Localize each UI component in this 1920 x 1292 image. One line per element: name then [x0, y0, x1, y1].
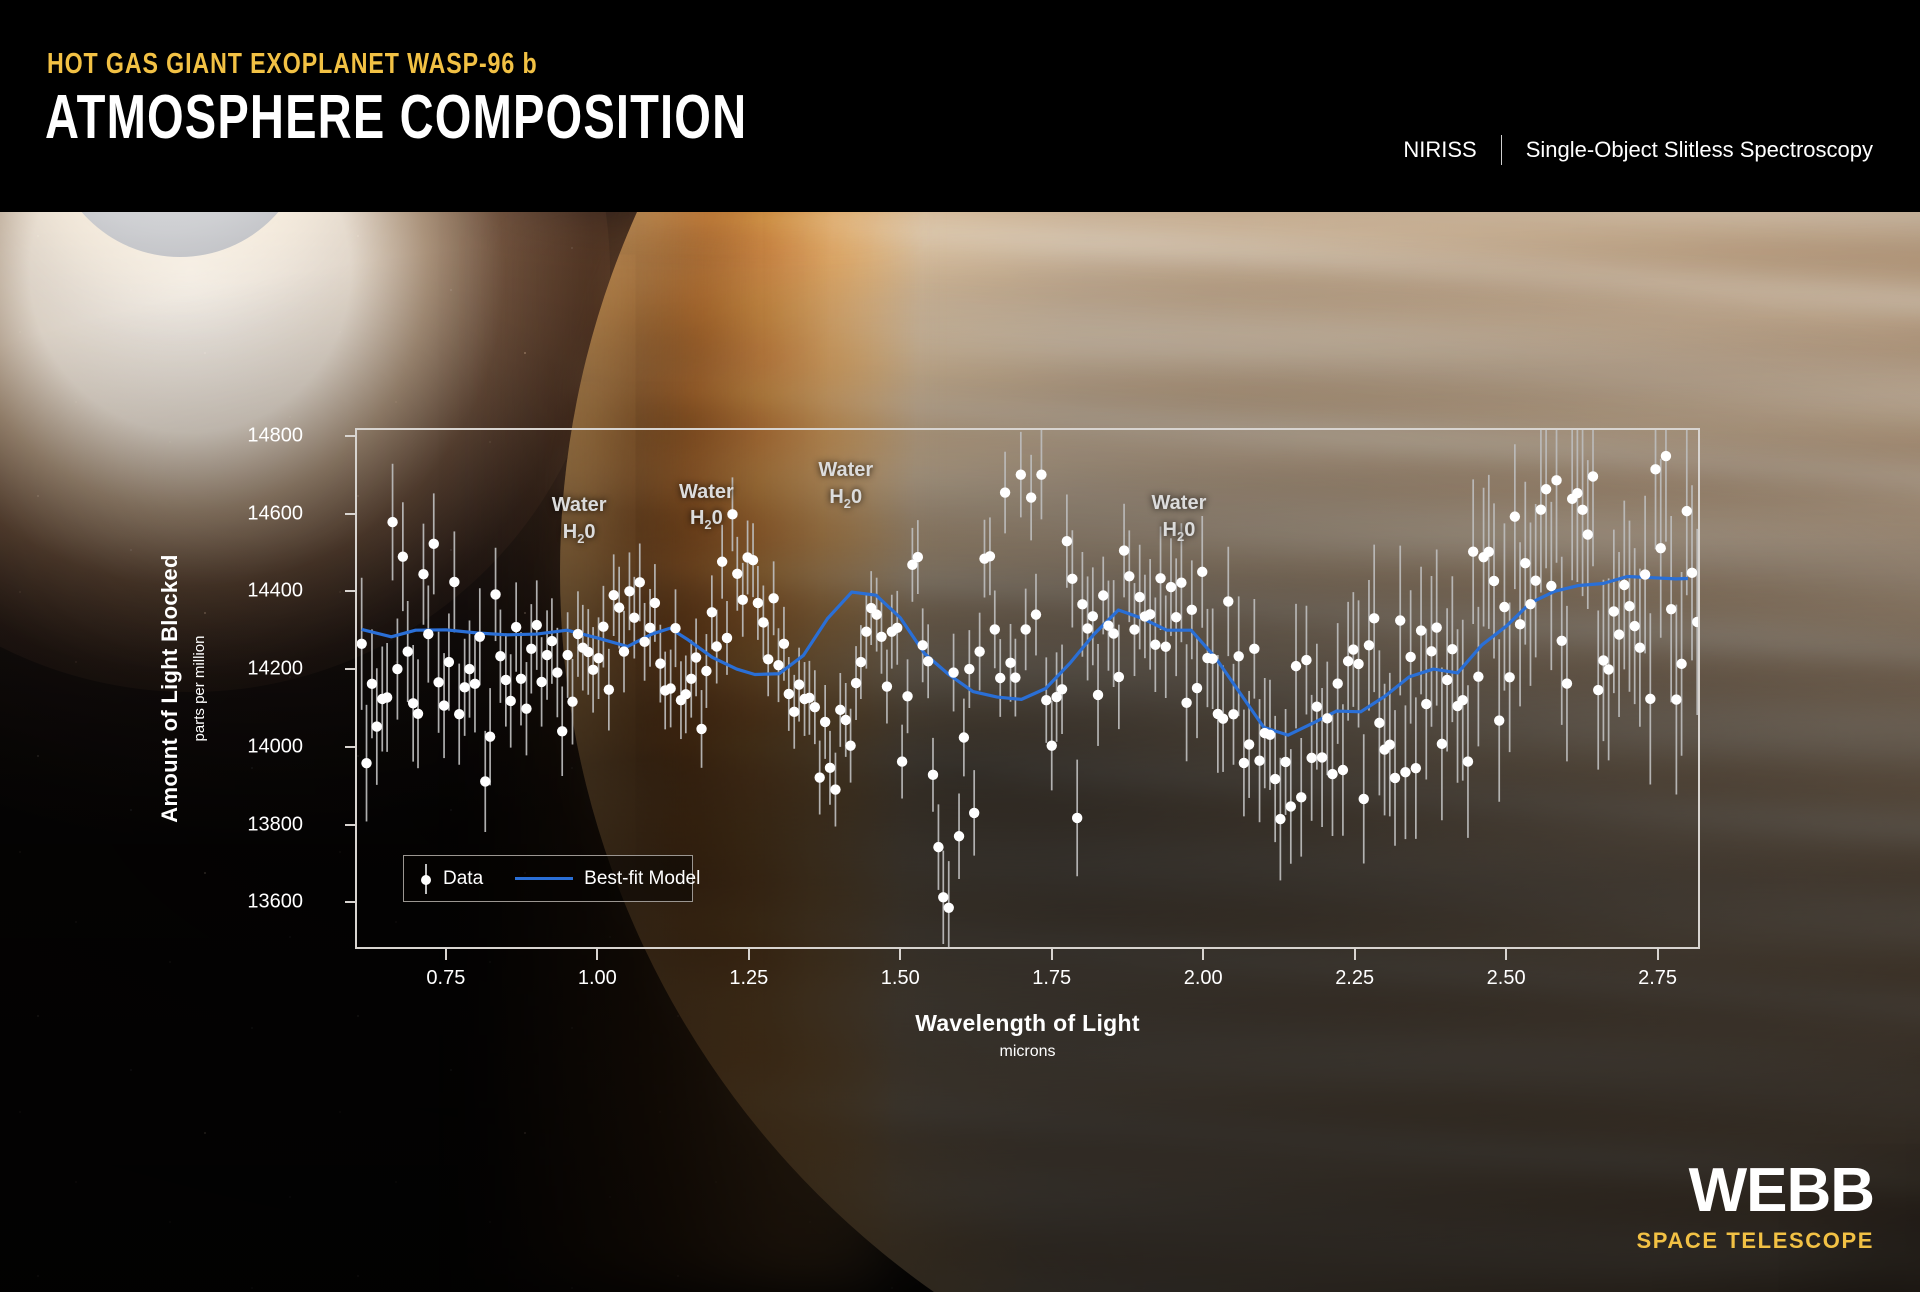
- webb-wordmark: WEBB: [1636, 1162, 1874, 1221]
- water-annotation: WaterH20: [552, 492, 607, 547]
- x-tick-mark: [1505, 949, 1507, 960]
- y-axis-title-text: Amount of Light Blocked: [157, 554, 183, 822]
- x-axis-title: Wavelength of Light: [355, 1010, 1700, 1037]
- y-tick-label: 14600: [247, 502, 303, 525]
- x-tick-label: 2.25: [1335, 967, 1374, 990]
- x-axis-units: microns: [355, 1043, 1700, 1061]
- annotation-formula: H20: [679, 505, 734, 533]
- annotation-formula: H20: [1152, 517, 1207, 545]
- water-annotation: WaterH20: [679, 479, 734, 534]
- y-axis-title: Amount of Light Blocked: [150, 428, 190, 949]
- webb-logo: WEBB SPACE TELESCOPE: [1636, 1162, 1874, 1254]
- x-axis-title-group: Wavelength of Light microns: [355, 1010, 1700, 1061]
- x-tick-mark: [1354, 949, 1356, 960]
- x-tick-mark: [1202, 949, 1204, 960]
- y-tick-label: 13600: [247, 891, 303, 914]
- y-tick-mark: [345, 590, 356, 592]
- data-point-icon: [420, 864, 432, 894]
- y-tick-label: 13800: [247, 813, 303, 836]
- annotation-label: Water: [552, 492, 607, 518]
- x-tick-mark: [1657, 949, 1659, 960]
- x-tick-mark: [1051, 949, 1053, 960]
- y-tick-mark: [345, 435, 356, 437]
- y-tick-mark: [345, 746, 356, 748]
- instrument-name: NIRISS: [1403, 137, 1476, 163]
- y-tick-label: 14800: [247, 424, 303, 447]
- y-tick-mark: [345, 513, 356, 515]
- x-tick-mark: [596, 949, 598, 960]
- x-tick-label: 1.50: [881, 967, 920, 990]
- y-axis-tick-labels: 14800146001440014200140001380013600: [193, 428, 303, 949]
- annotation-label: Water: [818, 457, 873, 483]
- y-tick-mark: [345, 901, 356, 903]
- x-tick-label: 1.00: [578, 967, 617, 990]
- instrument-divider: [1501, 135, 1502, 165]
- x-tick-label: 2.00: [1184, 967, 1223, 990]
- instrument-info: NIRISS Single-Object Slitless Spectrosco…: [1403, 135, 1873, 165]
- annotation-formula: H20: [552, 519, 607, 547]
- water-annotation: WaterH20: [1152, 490, 1207, 545]
- x-tick-mark: [899, 949, 901, 960]
- y-tick-label: 14400: [247, 580, 303, 603]
- observation-mode: Single-Object Slitless Spectroscopy: [1526, 137, 1873, 163]
- page-title: ATMOSPHERE COMPOSITION: [45, 82, 747, 153]
- y-axis-title-wrap: Amount of Light Blocked: [150, 428, 190, 949]
- legend-item-model: Best-fit Model: [515, 868, 700, 890]
- legend-model-label: Best-fit Model: [584, 868, 700, 890]
- legend-data-label: Data: [443, 868, 483, 890]
- header-bar: HOT GAS GIANT EXOPLANET WASP-96 b ATMOSP…: [0, 0, 1920, 212]
- y-tick-mark: [345, 824, 356, 826]
- x-tick-label: 0.75: [426, 967, 465, 990]
- y-tick-label: 14200: [247, 658, 303, 681]
- annotation-label: Water: [1152, 490, 1207, 516]
- x-axis-tick-labels: 0.751.001.251.501.752.002.252.502.75: [355, 949, 1700, 1009]
- x-tick-label: 2.75: [1638, 967, 1677, 990]
- water-annotation: WaterH20: [818, 457, 873, 512]
- infographic-root: HOT GAS GIANT EXOPLANET WASP-96 b ATMOSP…: [0, 0, 1920, 1292]
- y-tick-label: 14000: [247, 735, 303, 758]
- annotation-formula: H20: [818, 484, 873, 512]
- x-tick-label: 1.75: [1032, 967, 1071, 990]
- legend-item-data: Data: [420, 864, 483, 894]
- webb-logo-subtitle: SPACE TELESCOPE: [1636, 1228, 1874, 1254]
- x-tick-mark: [748, 949, 750, 960]
- x-tick-mark: [445, 949, 447, 960]
- x-tick-label: 2.50: [1487, 967, 1526, 990]
- x-tick-label: 1.25: [729, 967, 768, 990]
- subject-eyebrow: HOT GAS GIANT EXOPLANET WASP-96 b: [47, 48, 538, 81]
- chart-legend: Data Best-fit Model: [403, 855, 693, 902]
- model-line-icon: [515, 877, 573, 880]
- y-tick-mark: [345, 668, 356, 670]
- annotation-label: Water: [679, 479, 734, 505]
